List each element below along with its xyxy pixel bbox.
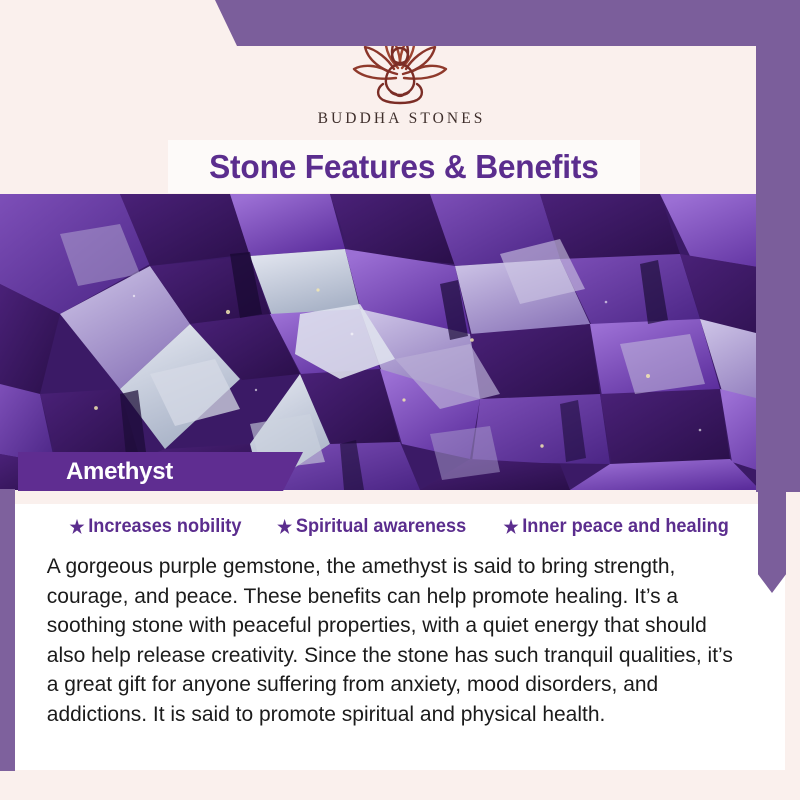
- hero-image: [0, 194, 800, 490]
- benefit-item-1: ★ Increases nobility: [69, 515, 241, 538]
- frame-right-tab: [758, 489, 786, 593]
- benefit-label: Spiritual awareness: [295, 515, 465, 538]
- page-title-banner: Stone Features & Benefits: [168, 140, 640, 193]
- footer-strip: [0, 770, 800, 800]
- page-title: Stone Features & Benefits: [209, 148, 599, 186]
- star-icon: ★: [69, 518, 84, 536]
- brand-wordmark: BUDDHA STONES: [0, 110, 800, 128]
- frame-top-bar: [215, 0, 800, 46]
- stone-name-banner: Amethyst: [18, 452, 303, 491]
- stone-features-infographic: BUDDHA STONES Stone Features & Benefits: [0, 0, 800, 800]
- frame-left-bar: [0, 489, 15, 771]
- content-panel: ★ Increases nobility ★ Spiritual awarene…: [15, 490, 785, 770]
- benefit-item-2: ★ Spiritual awareness: [277, 515, 466, 538]
- panel-top-tint: [15, 490, 785, 504]
- stone-description: A gorgeous purple gemstone, the amethyst…: [33, 552, 756, 730]
- frame-right-bar: [756, 0, 800, 492]
- amethyst-crystal-cluster-illustration: [0, 194, 800, 490]
- star-icon: ★: [277, 518, 292, 536]
- stone-name: Amethyst: [66, 458, 173, 486]
- benefits-list: ★ Increases nobility ★ Spiritual awarene…: [33, 515, 767, 538]
- benefit-item-3: ★ Inner peace and healing: [503, 515, 728, 538]
- benefit-label: Increases nobility: [88, 515, 241, 538]
- star-icon: ★: [503, 518, 518, 536]
- benefit-label: Inner peace and healing: [522, 515, 729, 538]
